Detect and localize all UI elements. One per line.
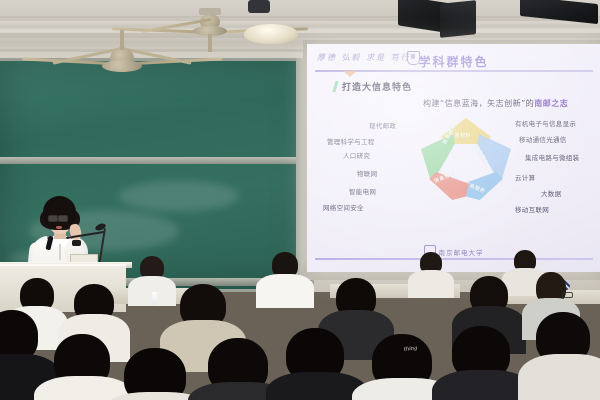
cluster-label-left-2: 人口研究 [343, 150, 370, 160]
presenter-hair-top [43, 196, 76, 228]
ceiling-lamp [244, 24, 298, 44]
lecture-hall-photo: 厚德 弘毅 求是 笃行 学科群特色 打造大信息特色 构建“信息蓝海，矢志创新”的… [0, 0, 600, 400]
cluster-label-right-2: 集成电路与微组装 [525, 152, 579, 162]
bullet-prefix: 构建 [423, 99, 440, 108]
discipline-cluster-pentagon: 信息材料 信息器件 信息网络 信息服务 信息智能 [419, 118, 511, 202]
speaker-unit [440, 0, 476, 38]
eyeglasses-icon [562, 292, 573, 298]
slide-title: 学科群特色 [307, 53, 600, 70]
bullet-quote: “信息蓝海，矢志创新” [440, 99, 526, 108]
cluster-label-right-4: 大数据 [541, 188, 561, 198]
audience-body [256, 274, 314, 308]
audience-body [518, 354, 600, 400]
presentation-slide: 厚德 弘毅 求是 笃行 学科群特色 打造大信息特色 构建“信息蓝海，矢志创新”的… [307, 44, 600, 272]
presenter-mouth [56, 226, 62, 229]
slide-bullet-secondary: 构建“信息蓝海，矢志创新”的南邮之志 [423, 98, 568, 109]
cluster-label-left-0: 现代邮政 [369, 120, 396, 130]
cluster-label-left-1: 管理科学与工程 [327, 136, 375, 146]
cluster-label-left-4: 智能电网 [349, 186, 376, 196]
slide-bullet-primary: 打造大信息特色 [342, 80, 412, 93]
fan-cap [102, 60, 142, 72]
lamp-mount [248, 0, 270, 13]
eyeglasses-bridge [56, 217, 59, 218]
ceiling-beam [0, 16, 600, 21]
ceiling-fan [22, 40, 222, 80]
chalk-smudge [119, 181, 239, 211]
cluster-label-left-3: 物联网 [357, 168, 377, 178]
blackboard-divider [0, 157, 311, 164]
eyeglasses-icon [58, 215, 68, 222]
wristwatch [72, 240, 81, 246]
cluster-label-left-5: 网络空间安全 [323, 202, 364, 212]
bullet-highlight: 南邮之志 [534, 99, 568, 108]
cluster-label-right-0: 有机电子与信息显示 [515, 118, 576, 128]
water-bottle [152, 292, 157, 305]
cluster-label-right-3: 云计算 [515, 172, 535, 182]
bullet-slash-icon [332, 81, 338, 92]
cluster-label-right-1: 移动通信光通信 [519, 134, 567, 144]
ceiling-beam [0, 33, 600, 38]
triangle-marker-icon [343, 71, 357, 77]
audience-seating: thing [0, 250, 600, 400]
cluster-label-right-5: 移动互联网 [515, 204, 549, 214]
audience-body [408, 270, 454, 298]
fan-rod [120, 30, 124, 50]
